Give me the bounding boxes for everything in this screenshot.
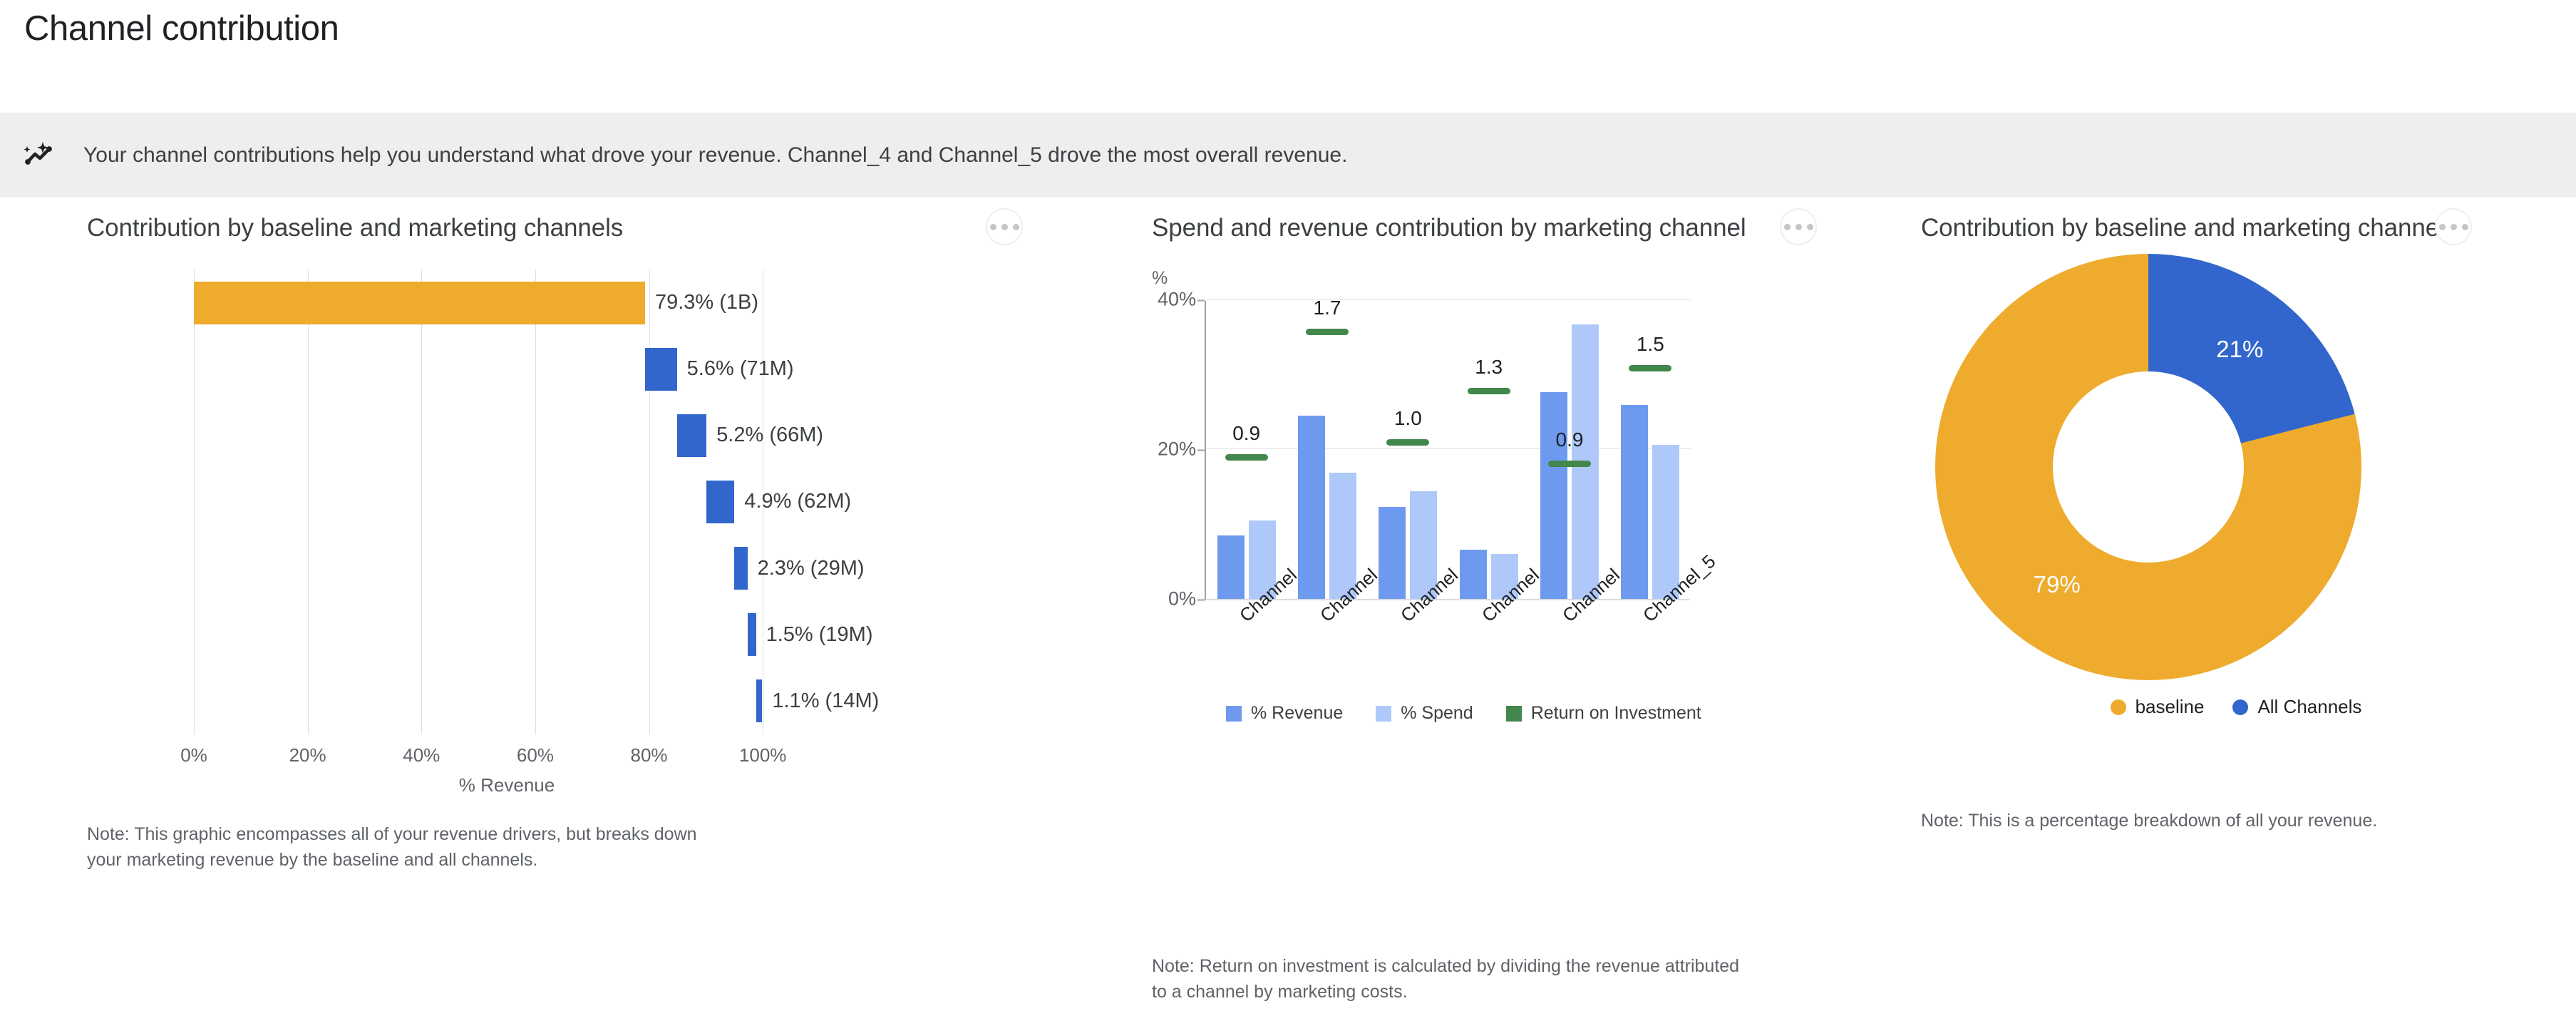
waterfall-row[interactable]: CHANNEL_14.9% (62M) [194,468,820,535]
waterfall-bar[interactable] [194,282,645,324]
card-contribution-waterfall: Contribution by baseline and marketing c… [0,214,1119,257]
legend-swatch [2111,699,2126,715]
roi-value-label: 1.3 [1475,356,1503,379]
roi-marker[interactable] [1306,329,1349,335]
waterfall-bar-value: 5.6% (71M) [687,336,794,402]
waterfall-row[interactable]: BASELINE79.3% (1B) [194,270,820,336]
card-header: Contribution by baseline and marketing c… [1896,214,2576,257]
legend-label: Return on Investment [1531,703,1701,724]
card-spend-revenue-bars: Spend and revenue contribution by market… [1119,214,1896,257]
legend-item[interactable]: % Spend [1376,703,1473,724]
card-title: Contribution by baseline and marketing c… [1921,214,2457,242]
y-axis-tick: 40% [1053,289,1196,311]
roi-value-label: 1.7 [1314,297,1341,319]
roi-marker[interactable] [1548,461,1591,467]
waterfall-bar[interactable] [706,481,734,523]
donut-legend: baselineAll Channels [1896,696,2576,718]
grouped-bar-legend: % Revenue% SpendReturn on Investment [1226,703,1701,724]
waterfall-bar[interactable] [734,547,747,590]
spend-bar[interactable] [1652,445,1679,599]
legend-item[interactable]: % Revenue [1226,703,1343,724]
card-header: Contribution by baseline and marketing c… [0,214,1119,257]
bar-group[interactable]: 0.9 [1206,299,1287,599]
chart-note: Note: This graphic encompasses all of yo… [87,821,714,873]
card-contribution-donut: Contribution by baseline and marketing c… [1896,214,2576,257]
legend-item[interactable]: All Channels [2232,696,2361,718]
revenue-bar[interactable] [1298,416,1325,599]
roi-value-label: 1.5 [1637,333,1664,356]
legend-swatch [1506,706,1522,722]
more-options-icon[interactable] [986,208,1023,245]
roi-value-label: 1.0 [1394,407,1422,430]
waterfall-bar-value: 2.3% (29M) [758,535,865,602]
waterfall-plot-area: BASELINE79.3% (1B)CHANNEL_45.6% (71M)CHA… [194,270,820,734]
waterfall-bar[interactable] [756,679,763,722]
grouped-bar-chart: % 0%20%40%0.9Channel_01.7Channel_11.0Cha… [1119,261,1896,760]
insight-banner-text: Your channel contributions help you unde… [83,143,1347,168]
roi-value-label: 0.9 [1556,429,1584,451]
insights-sparkle-icon [16,134,63,177]
y-axis-tick: 0% [1053,588,1196,610]
more-options-icon[interactable] [2435,208,2472,245]
donut-plot-area: 21%79% [1935,254,2361,680]
legend-item[interactable]: Return on Investment [1506,703,1701,724]
waterfall-bar[interactable] [645,348,677,391]
x-axis-tick: 100% [739,744,787,766]
bar-group[interactable]: 1.0 [1368,299,1448,599]
chart-note: Note: Return on investment is calculated… [1152,953,1758,1005]
waterfall-bar-value: 4.9% (62M) [744,468,851,535]
insight-banner: Your channel contributions help you unde… [0,113,2576,197]
legend-swatch [2232,699,2248,715]
roi-marker[interactable] [1629,365,1671,371]
bar-group[interactable]: 1.3 [1448,299,1529,599]
waterfall-bar-value: 5.2% (66M) [716,402,823,468]
revenue-bar[interactable] [1379,507,1406,599]
waterfall-bar-value: 1.1% (14M) [772,668,879,734]
waterfall-x-axis-ticks: 0%20%40%60%80%100% [194,744,820,770]
revenue-bar[interactable] [1217,535,1245,599]
waterfall-row[interactable]: CHANNEL_55.2% (66M) [194,402,820,468]
donut-hole [2053,371,2244,563]
roi-marker[interactable] [1468,388,1510,394]
x-axis-tick: 40% [403,744,440,766]
waterfall-row[interactable]: CHANNEL_22.3% (29M) [194,535,820,602]
waterfall-bar[interactable] [748,613,756,656]
waterfall-row[interactable]: CHANNEL_45.6% (71M) [194,336,820,402]
y-axis-unit-label: % [1152,268,1168,289]
roi-marker[interactable] [1225,454,1268,461]
waterfall-row[interactable]: CHANNEL_31.1% (14M) [194,668,820,734]
legend-swatch [1226,706,1242,722]
bar-group[interactable]: 0.9 [1529,299,1609,599]
chart-note: Note: This is a percentage breakdown of … [1921,808,2491,833]
card-title: Contribution by baseline and marketing c… [87,214,623,242]
donut-slice-label: 79% [2034,571,2081,598]
bar-group[interactable]: 1.7 [1287,299,1367,599]
grouped-bar-plot-area: 0%20%40%0.9Channel_01.7Channel_11.0Chann… [1205,301,1689,600]
revenue-bar[interactable] [1460,550,1487,599]
more-options-icon[interactable] [1780,208,1817,245]
x-axis-tick: 20% [289,744,326,766]
legend-item[interactable]: baseline [2111,696,2205,718]
legend-label: baseline [2135,696,2205,718]
waterfall-bar-value: 1.5% (19M) [766,602,873,668]
waterfall-chart: BASELINE79.3% (1B)CHANNEL_45.6% (71M)CHA… [0,261,1119,803]
x-axis-tick: 0% [180,744,207,766]
x-axis-tick: 60% [517,744,554,766]
x-axis-tick: 80% [631,744,668,766]
revenue-bar[interactable] [1540,392,1567,599]
card-title: Spend and revenue contribution by market… [1152,214,1746,242]
legend-label: % Spend [1401,703,1473,724]
y-axis-tick: 20% [1053,438,1196,461]
roi-value-label: 0.9 [1232,422,1260,445]
waterfall-x-axis-title: % Revenue [194,774,820,796]
revenue-bar[interactable] [1621,405,1648,599]
legend-label: % Revenue [1251,703,1343,724]
card-header: Spend and revenue contribution by market… [1119,214,1896,257]
donut-chart: 21%79% baselineAll Channels [1896,254,2576,710]
bar-group[interactable]: 1.5 [1610,299,1691,599]
page-title: Channel contribution [24,9,339,48]
waterfall-row[interactable]: CHANNEL_01.5% (19M) [194,602,820,668]
donut-slice-label: 21% [2216,336,2263,363]
waterfall-bar-value: 79.3% (1B) [655,270,758,336]
roi-marker[interactable] [1386,439,1429,446]
legend-swatch [1376,706,1391,722]
waterfall-bar[interactable] [677,414,707,457]
legend-label: All Channels [2257,696,2361,718]
